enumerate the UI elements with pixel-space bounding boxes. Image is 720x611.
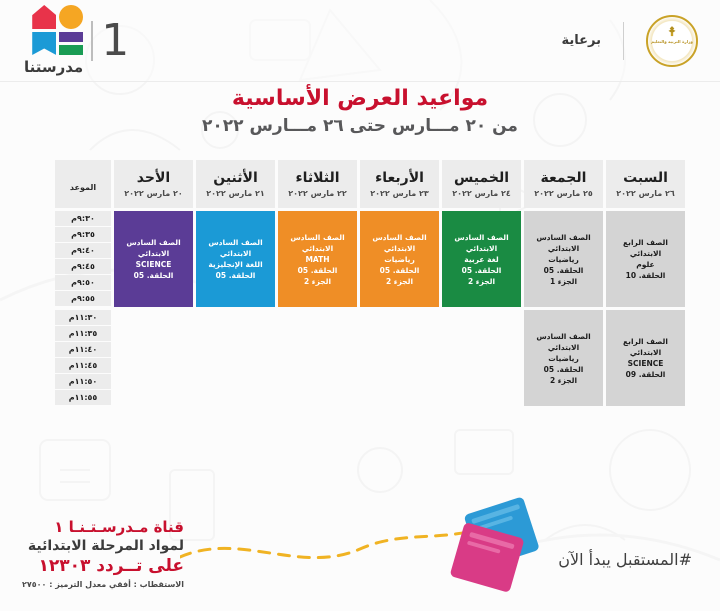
day-date: ٢٤ مارس ٢٠٢٢ — [444, 189, 519, 198]
time-slot-group: ٩:٣٠م٩:٣٥م٩:٤٠م٩:٤٥م٩:٥٠م٩:٥٥م — [55, 211, 111, 307]
cell-episode: الحلقة. 05 — [281, 265, 354, 276]
schedule-cell[interactable]: الصف السادس الابتدائيMATHالحلقة. 05الجزء… — [278, 211, 357, 307]
schedule-cell[interactable]: الصف الرابع الابتدائيSCIENCEالحلقة. 09 — [606, 310, 685, 406]
logo-bar-purple-icon — [59, 32, 83, 42]
cell-grade: الصف السادس الابتدائي — [117, 237, 190, 259]
cell-episode: الحلقة. 10 — [609, 270, 682, 281]
schedule-cell-empty — [360, 310, 439, 406]
footer-channel-line: قناة مـدرسـتـنـا ١ — [22, 518, 184, 536]
time-slot: ٩:٣٥م — [55, 227, 111, 242]
time-slot: ١١:٣٥م — [55, 326, 111, 341]
day-name: الخميس — [444, 170, 519, 186]
schedule-cell-empty — [196, 310, 275, 406]
schedule-cell[interactable]: الصف الرابع الابتدائيعلومالحلقة. 10 — [606, 211, 685, 307]
channel-logo: مدرستنا — [24, 5, 83, 76]
day-header-5: الثلاثاء٢٢ مارس ٢٠٢٢ — [278, 160, 357, 208]
time-slot: ٩:٣٠م — [55, 211, 111, 226]
logo-bar-green-icon — [59, 45, 83, 55]
cell-episode: الحلقة. 05 — [117, 270, 190, 281]
cell-grade: الصف السادس الابتدائي — [527, 331, 600, 353]
time-slot: ٩:٥٥م — [55, 291, 111, 306]
cell-episode: الحلقة. 05 — [445, 265, 518, 276]
cell-part: الجزء 2 — [527, 375, 600, 386]
channel-frequency-block: قناة مـدرسـتـنـا ١ لمواد المرحلة الابتدا… — [22, 518, 184, 589]
schedule-cell-empty — [114, 310, 193, 406]
schedule-body: الصف الرابع الابتدائيعلومالحلقة. 10الصف … — [55, 211, 685, 406]
day-header-3: الخميس٢٤ مارس ٢٠٢٢ — [442, 160, 521, 208]
day-name: الأثنين — [198, 170, 273, 186]
logo-circle-icon — [59, 5, 83, 29]
cell-episode: الحلقة. 05 — [527, 265, 600, 276]
sponsor-block: وزارة التربية والتعليم برعاية — [562, 15, 699, 67]
cell-part: الجزء 2 — [445, 276, 518, 287]
cell-grade: الصف السادس الابتدائي — [199, 237, 272, 259]
cell-episode: الحلقة. 05 — [199, 270, 272, 281]
cell-subject: لغة عربية — [445, 254, 518, 265]
cell-subject: رياضيات — [363, 254, 436, 265]
page-title: مواعيد العرض الأساسية — [0, 86, 720, 112]
schedule-cell-empty — [442, 310, 521, 406]
cell-grade: الصف السادس الابتدائي — [445, 232, 518, 254]
schedule-cell[interactable]: الصف السادس الابتدائيلغة عربيةالحلقة. 05… — [442, 211, 521, 307]
time-slot: ٩:٤٠م — [55, 243, 111, 258]
time-slot: ٩:٥٠م — [55, 275, 111, 290]
time-column-header: الموعد — [55, 160, 111, 208]
cell-subject: رياضيات — [527, 254, 600, 265]
cell-grade: الصف السادس الابتدائي — [527, 232, 600, 254]
time-column-label: الموعد — [70, 183, 96, 192]
schedule-cell[interactable]: الصف السادس الابتدائيرياضياتالحلقة. 05ال… — [524, 211, 603, 307]
page-footer: #المستقبل يبدأ الآن قناة مـدرسـتـنـا ١ — [0, 481, 720, 611]
cell-subject: رياضيات — [527, 353, 600, 364]
schedule-cell[interactable]: الصف السادس الابتدائيرياضياتالحلقة. 05ال… — [360, 211, 439, 307]
day-header-6: الأثنين٢١ مارس ٢٠٢٢ — [196, 160, 275, 208]
cell-episode: الحلقة. 05 — [527, 364, 600, 375]
footer-audience-line: لمواد المرحلة الابتدائية — [22, 538, 184, 554]
day-name: الأربعاء — [362, 170, 437, 186]
schedule-cell[interactable]: الصف السادس الابتدائيSCIENCEالحلقة. 05 — [114, 211, 193, 307]
day-name: الثلاثاء — [280, 170, 355, 186]
time-slot: ٩:٤٥م — [55, 259, 111, 274]
day-header-2: الجمعة٢٥ مارس ٢٠٢٢ — [524, 160, 603, 208]
day-name: الأحد — [116, 170, 191, 186]
page-subtitle: من ٢٠ مـــارس حتى ٢٦ مـــارس ٢٠٢٢ — [0, 116, 720, 136]
schedule-row: الصف الرابع الابتدائيSCIENCEالحلقة. 09ال… — [55, 310, 685, 406]
cell-part: الجزء 2 — [363, 276, 436, 287]
schedule-cell-empty — [278, 310, 357, 406]
day-name: السبت — [608, 170, 683, 186]
schedule-cell[interactable]: الصف السادس الابتدائياللغة الإنجليزيةالح… — [196, 211, 275, 307]
day-date: ٢٣ مارس ٢٠٢٢ — [362, 189, 437, 198]
time-slot-group: ١١:٣٠م١١:٣٥م١١:٤٠م١١:٤٥م١١:٥٠م١١:٥٥م — [55, 310, 111, 406]
cell-subject: MATH — [281, 254, 354, 265]
logo-bookmark-blue-icon — [32, 32, 56, 55]
day-date: ٢٦ مارس ٢٠٢٢ — [608, 189, 683, 198]
header-divider — [623, 22, 624, 60]
cell-subject: اللغة الإنجليزية — [199, 259, 272, 270]
time-slot: ١١:٥٥م — [55, 390, 111, 405]
cell-subject: SCIENCE — [117, 259, 190, 270]
cell-episode: الحلقة. 09 — [609, 369, 682, 380]
title-block: مواعيد العرض الأساسية من ٢٠ مـــارس حتى … — [0, 86, 720, 136]
day-header-4: الأربعاء٢٣ مارس ٢٠٢٢ — [360, 160, 439, 208]
page-header: وزارة التربية والتعليم برعاية 1 مدرستنا — [0, 0, 720, 82]
cell-grade: الصف الرابع الابتدائي — [609, 237, 682, 259]
day-date: ٢٥ مارس ٢٠٢٢ — [526, 189, 601, 198]
time-slot: ١١:٥٠م — [55, 374, 111, 389]
logo-shapes — [24, 5, 83, 55]
sponsor-label: برعاية — [562, 33, 602, 48]
day-date: ٢٠ مارس ٢٠٢٢ — [116, 189, 191, 198]
time-slot: ١١:٣٠م — [55, 310, 111, 325]
cell-subject: علوم — [609, 259, 682, 270]
schedule-poster: وزارة التربية والتعليم برعاية 1 مدرستنا … — [0, 0, 720, 611]
cell-episode: الحلقة. 05 — [363, 265, 436, 276]
day-name: الجمعة — [526, 170, 601, 186]
seal-label: وزارة التربية والتعليم — [648, 39, 696, 44]
cell-part: الجزء 2 — [281, 276, 354, 287]
time-slot: ١١:٤٠م — [55, 342, 111, 357]
day-date: ٢٢ مارس ٢٠٢٢ — [280, 189, 355, 198]
ministry-of-education-seal-icon: وزارة التربية والتعليم — [646, 15, 698, 67]
channel-branding: 1 مدرستنا — [24, 5, 129, 76]
day-date: ٢١ مارس ٢٠٢٢ — [198, 189, 273, 198]
day-header-1: السبت٢٦ مارس ٢٠٢٢ — [606, 160, 685, 208]
channel-number: 1 — [101, 19, 129, 63]
schedule-row: الصف الرابع الابتدائيعلومالحلقة. 10الصف … — [55, 211, 685, 307]
schedule-cell[interactable]: الصف السادس الابتدائيرياضياتالحلقة. 05ال… — [524, 310, 603, 406]
cell-grade: الصف السادس الابتدائي — [281, 232, 354, 254]
channel-divider — [91, 21, 93, 61]
footer-tech-line: الاستقطاب : أفقي معدل الترميز : ٢٧٥٠٠ — [22, 580, 184, 589]
footer-frequency-line: على تــردد ١٢٣٠٣ — [22, 556, 184, 576]
logo-house-icon — [32, 5, 56, 29]
cell-subject: SCIENCE — [609, 358, 682, 369]
day-header-7: الأحد٢٠ مارس ٢٠٢٢ — [114, 160, 193, 208]
cell-grade: الصف الرابع الابتدائي — [609, 336, 682, 358]
schedule-table: السبت٢٦ مارس ٢٠٢٢الجمعة٢٥ مارس ٢٠٢٢الخمي… — [52, 157, 688, 409]
table-header-row: السبت٢٦ مارس ٢٠٢٢الجمعة٢٥ مارس ٢٠٢٢الخمي… — [55, 160, 685, 208]
cell-grade: الصف السادس الابتدائي — [363, 232, 436, 254]
time-slot: ١١:٤٥م — [55, 358, 111, 373]
channel-name: مدرستنا — [24, 58, 83, 76]
cell-part: الجزء 1 — [527, 276, 600, 287]
